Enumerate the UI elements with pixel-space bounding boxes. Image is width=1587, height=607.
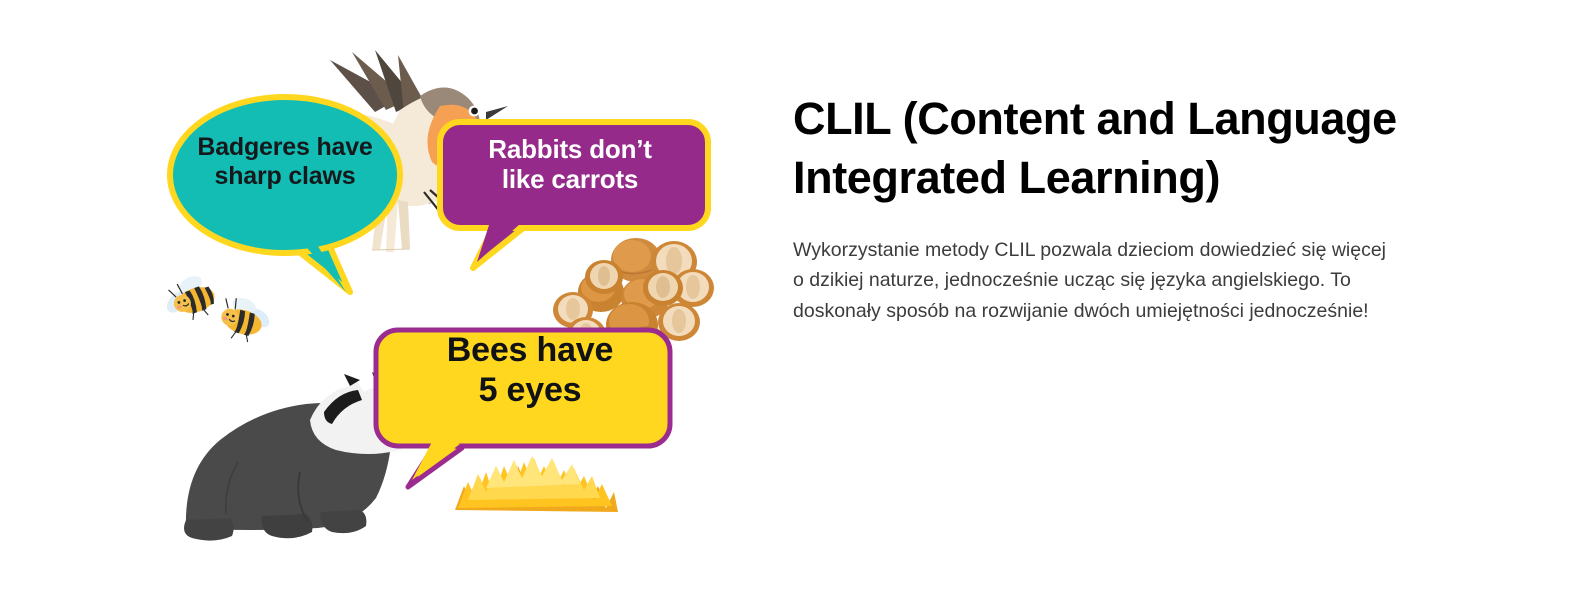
clil-wildlife-illustration: Badgeres have sharp claws Rabbits don’t …: [0, 0, 760, 607]
page-title: CLIL (Content and Language Integrated Le…: [793, 90, 1413, 207]
text-column: CLIL (Content and Language Integrated Le…: [793, 90, 1413, 326]
hay-pile-icon: [455, 456, 618, 512]
bee-icon: [157, 270, 277, 348]
speech-bubble-yellow[interactable]: [376, 330, 670, 487]
illustration-canvas: [0, 0, 760, 607]
body-paragraph: Wykorzystanie metody CLIL pozwala dzieci…: [793, 235, 1393, 326]
speech-bubble-teal[interactable]: [170, 97, 400, 292]
page-root: Badgeres have sharp claws Rabbits don’t …: [0, 0, 1587, 607]
